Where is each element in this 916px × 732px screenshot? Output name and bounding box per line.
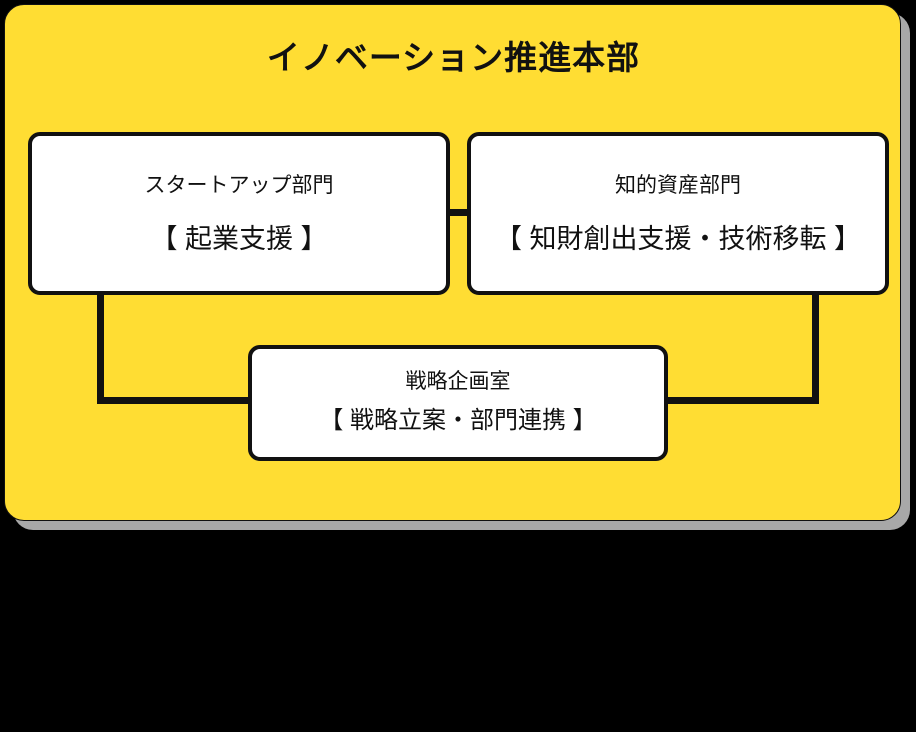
department-role-strategy: 【 戦略立案・部門連携 】 [319, 403, 596, 439]
headquarters-panel: イノベーション推進本部 スタートアップ部門 【 起業支援 】 知的資産部門 【 … [4, 4, 901, 521]
department-box-strategy[interactable]: 戦略企画室 【 戦略立案・部門連携 】 [248, 345, 668, 461]
department-box-startup[interactable]: スタートアップ部門 【 起業支援 】 [28, 132, 450, 295]
department-role-intellectual-property: 【 知財創出支援・技術移転 】 [495, 221, 861, 257]
page-title: イノベーション推進本部 [5, 38, 902, 78]
connector-startup-to-strategy-vertical [97, 291, 104, 404]
department-box-intellectual-property[interactable]: 知的資産部門 【 知財創出支援・技術移転 】 [467, 132, 889, 295]
diagram-canvas: イノベーション推進本部 スタートアップ部門 【 起業支援 】 知的資産部門 【 … [0, 0, 916, 732]
department-name-intellectual-property: 知的資産部門 [615, 171, 741, 201]
connector-ip-to-strategy-vertical [812, 291, 819, 404]
department-name-startup: スタートアップ部門 [145, 171, 334, 201]
connector-startup-to-strategy-horizontal [97, 397, 255, 404]
connector-ip-to-strategy-horizontal [661, 397, 819, 404]
department-name-strategy: 戦略企画室 [406, 367, 511, 397]
department-role-startup: 【 起業支援 】 [150, 221, 327, 257]
